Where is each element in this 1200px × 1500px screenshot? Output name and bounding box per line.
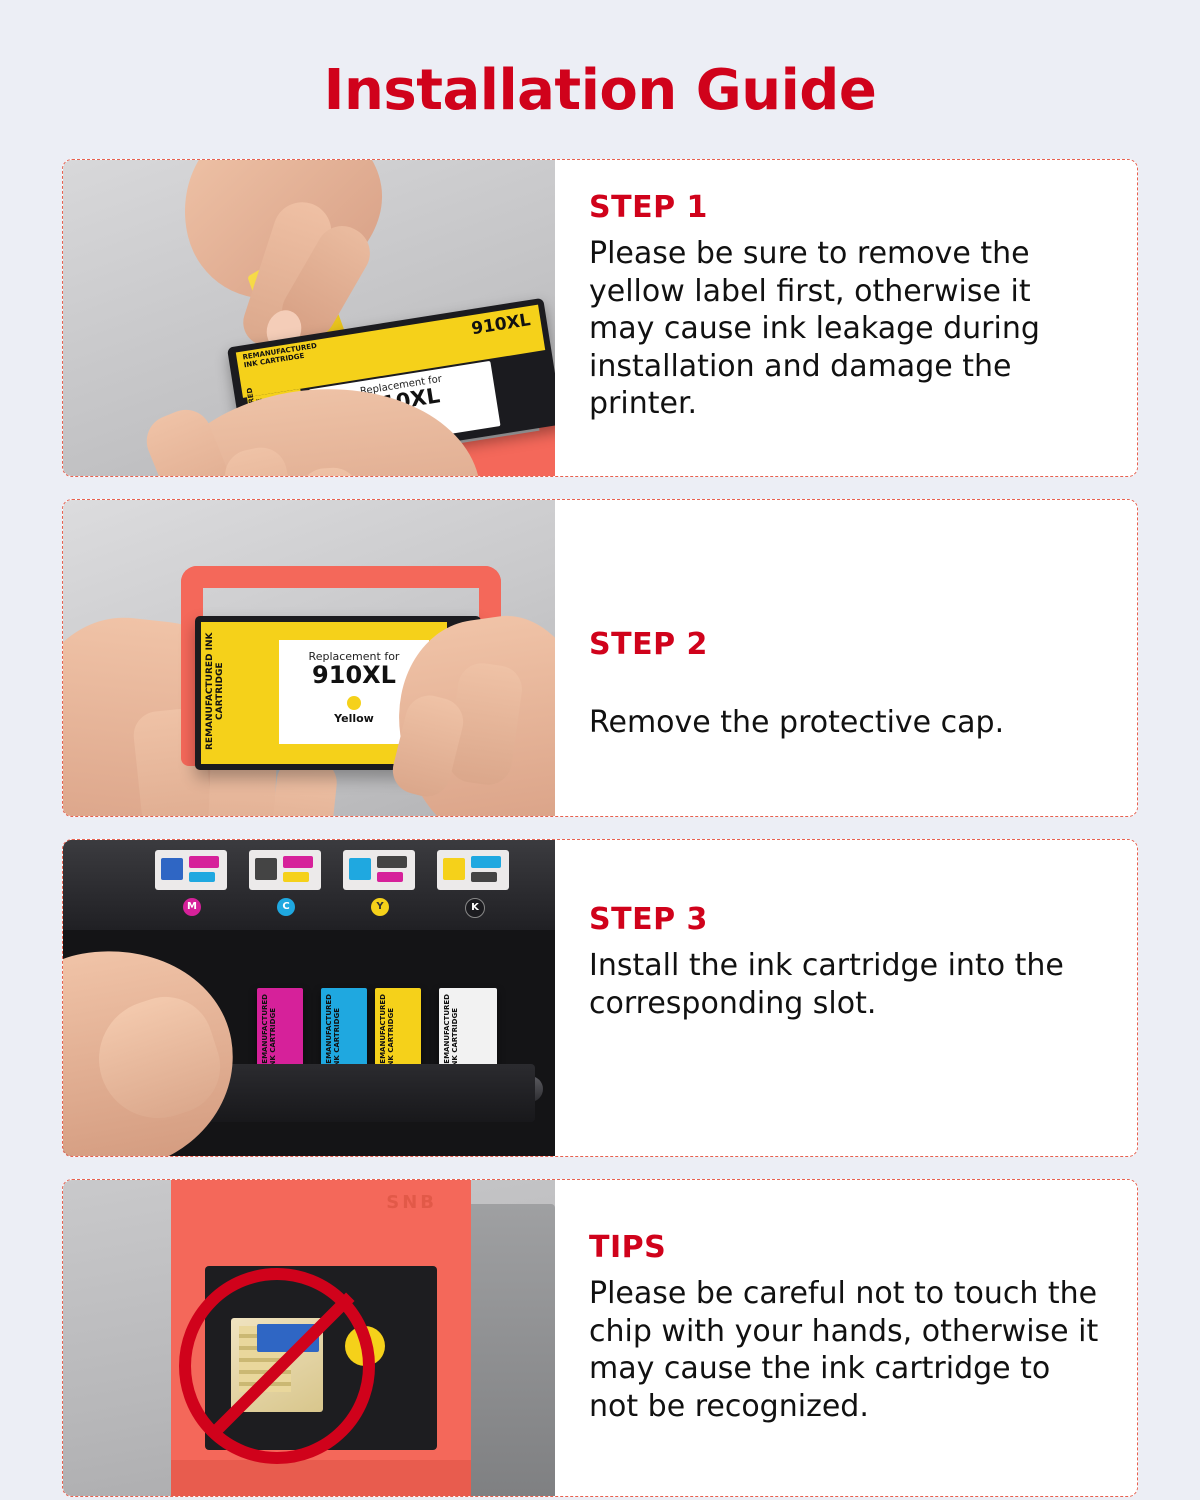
step-2-label: STEP 2 (589, 627, 1103, 662)
clip-brand-text: SNB (386, 1192, 437, 1213)
slot-marker-cyan: C (277, 898, 295, 916)
label-color-dot (347, 696, 361, 710)
step-3-text-panel: STEP 3 Install the ink cartridge into th… (555, 840, 1137, 1156)
clip-arm (171, 1460, 471, 1496)
cartridge-vertical-text: REMANUFACTUREDINK CARTRIDGE (325, 994, 341, 1069)
slot-marker-yellow: Y (371, 898, 389, 916)
step-3-body: Install the ink cartridge into the corre… (589, 947, 1103, 1022)
step-row: M C Y K REMANUFACTUREDINK CARTRIDGE 910X… (62, 839, 1138, 1157)
step-2-text-panel: STEP 2 Remove the protective cap. (555, 500, 1137, 816)
slot-diagram-1 (155, 850, 227, 890)
slot-diagram-2 (249, 850, 321, 890)
step-1-text-panel: STEP 1 Please be sure to remove the yell… (555, 160, 1137, 476)
step-1-label: STEP 1 (589, 190, 1103, 225)
slot-diagram-3 (343, 850, 415, 890)
steps-list: REMANUFACTUREDINK CARTRIDGE 910XL REMANU… (0, 159, 1200, 1497)
step-3-illustration: M C Y K REMANUFACTUREDINK CARTRIDGE 910X… (63, 840, 555, 1156)
step-2-body: Remove the protective cap. (589, 704, 1103, 742)
tips-label: TIPS (589, 1230, 1103, 1265)
slot-diagram-4 (437, 850, 509, 890)
step-row: REMANUFACTURED INK CARTRIDGE Replacement… (62, 499, 1138, 817)
step-4-text-panel: TIPS Please be careful not to touch the … (555, 1180, 1137, 1496)
step-2-illustration: REMANUFACTURED INK CARTRIDGE Replacement… (63, 500, 555, 816)
step-4-illustration: SNB (63, 1180, 555, 1496)
cartridge-vertical-text: REMANUFACTUREDINK CARTRIDGE (261, 994, 277, 1069)
cartridge-vertical-text: REMANUFACTUREDINK CARTRIDGE (379, 994, 395, 1069)
step-row: REMANUFACTUREDINK CARTRIDGE 910XL REMANU… (62, 159, 1138, 477)
installation-guide-page: Installation Guide REMANUFACTUREDINK CAR… (0, 0, 1200, 1500)
prohibition-sign-icon (179, 1268, 375, 1464)
slot-marker-magenta: M (183, 898, 201, 916)
step-1-illustration: REMANUFACTUREDINK CARTRIDGE 910XL REMANU… (63, 160, 555, 476)
page-title: Installation Guide (0, 0, 1200, 123)
slot-marker-black: K (465, 898, 485, 918)
step-3-label: STEP 3 (589, 902, 1103, 937)
cartridge-side-text: REMANUFACTURED INK CARTRIDGE (205, 632, 267, 750)
step-row: SNB TIPS Please be careful not to touch … (62, 1179, 1138, 1497)
cartridge-vertical-text: REMANUFACTUREDINK CARTRIDGE (443, 994, 459, 1069)
step-1-body: Please be sure to remove the yellow labe… (589, 235, 1103, 423)
tips-body: Please be careful not to touch the chip … (589, 1275, 1103, 1425)
